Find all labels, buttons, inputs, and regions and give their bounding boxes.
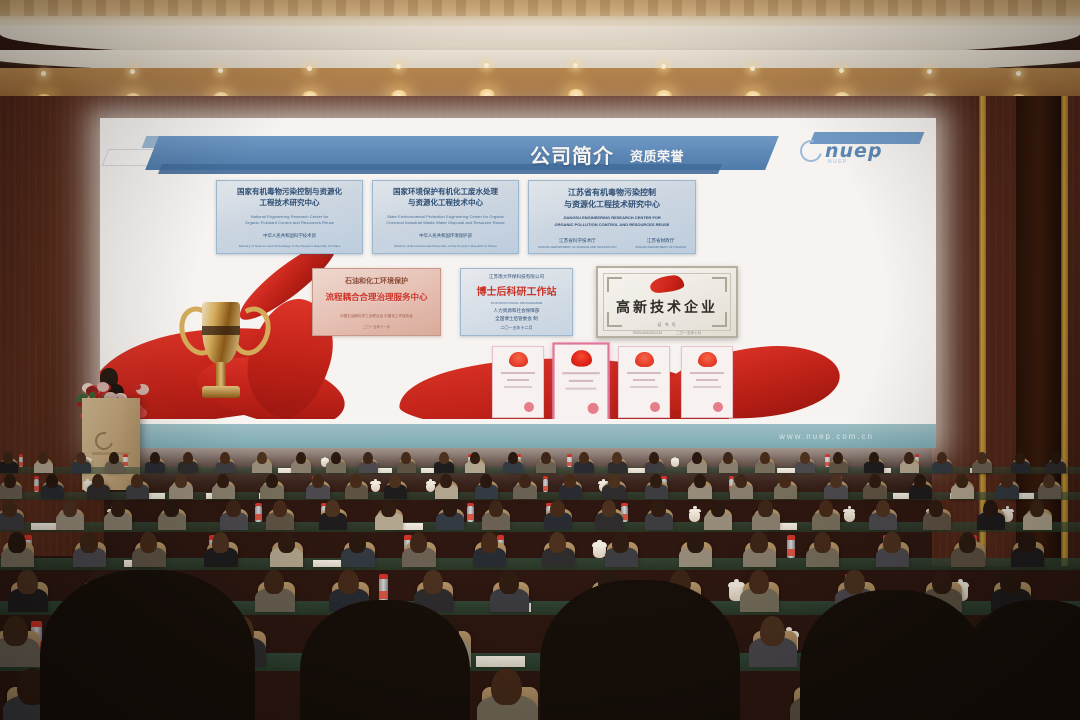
plaque-en-line2: Organic Pollutant Control and Resources … [245,221,334,226]
cert-text-line [690,372,724,374]
plaque-en-line1: State Environmental Protection Engineeri… [387,214,504,219]
audience-member-head [869,452,879,464]
cert-seal-icon [713,402,723,412]
audience-member-head [278,532,295,553]
audience-member-head [111,500,125,517]
foreground-attendee-silhouette [800,590,985,720]
bottle-label [567,462,572,466]
audience-member-head [76,452,86,464]
audience-member-head [1018,532,1035,553]
plaque-en-line2: ORGANIC POLLUTION CONTROL AND RESOURCES … [555,222,670,227]
audience-member-head [779,474,791,488]
presentation-slide: 公司简介 资质荣誉 nuep NUEP 国家有机毒物污染控制与资源化 [100,118,936,448]
plaque-en-line2: Chemical Industrial Waste Water Disposal… [386,221,504,226]
audience-member-head [273,500,287,517]
bottle-cap [19,454,24,457]
slide-footer-url: www.nuep.com.cn [779,432,874,441]
national-emblem-icon [571,350,592,367]
bottle-cap [379,574,388,579]
audience-member-head [350,474,362,488]
plaque-red-top: 石油和化工环境保护 [345,276,408,286]
plaque-dr-org: 江苏南大环保科技有限公司 [489,274,544,280]
plaque-red-footer: 中国石油和化学工业联合会 中国化工环保协会 [340,314,413,319]
audience-member-head [109,452,119,464]
audience-member-head [650,474,662,488]
plaque-dr-en: POSTDOCTORAL PROGRAMME [491,301,542,304]
audience-member-head [349,532,366,553]
audience-member-head [819,500,833,517]
audience-member-head [608,474,620,488]
audience-member-head [1015,452,1025,464]
tea-cup-knob [324,457,327,459]
logo-arc-icon [796,136,826,166]
audience-member-head [338,570,358,594]
audience-member-head [220,452,230,464]
audience-member-head [80,532,97,553]
cert-seal-icon [588,403,599,414]
audience-member-head [1030,500,1044,517]
audience-member-head [508,452,518,464]
plaque-ht-sub: 证 书 号 [657,322,676,328]
plaque-cn-line1: 江苏省有机毒物污染控制 [568,187,656,199]
audience-member-head [150,452,160,464]
audience-member-head [564,474,576,488]
bottle-cap [34,476,39,479]
cert-text-line [627,372,661,374]
audience-member-head [800,452,810,464]
audience-member-head [480,474,492,488]
audience-member-head [1043,474,1055,488]
audience-member-head [869,474,881,488]
audience-member-head [2,500,16,517]
audience-member-head [711,500,725,517]
audience-member-head [470,452,480,464]
national-emblem-icon [698,352,717,367]
audience-member-head [325,500,339,517]
bottle-label [543,486,548,491]
tea-cup [371,484,380,492]
bottle-cap [255,503,261,507]
audience-member-head [750,532,767,553]
audience-member-head [760,616,785,646]
audience-member-head [814,532,831,553]
gold-trophy-icon [178,290,264,408]
ceiling-ornament [0,0,1080,16]
audience-member-head [723,452,733,464]
audience-member-head [692,452,702,464]
logo-subtext: NUEP [828,159,848,165]
bottle-cap [31,621,42,627]
audience-member-head [929,500,943,517]
audience-member-head [651,500,665,517]
plaque-cn-line1: 国家有机毒物污染控制与资源化 [237,187,342,198]
audience-member-head [549,532,566,553]
plaque-ht-main: 高新技术企业 [616,297,718,317]
audience-member-head [959,532,976,553]
plaque-jiangsu-center: 江苏省有机毒物污染控制 与资源化工程技术研究中心 JIANGSU ENGINEE… [528,180,696,254]
plaque-red-main: 流程耦合合理治理服务中心 [325,291,427,303]
cert-4 [681,346,733,418]
plaque-cn-line2: 工程技术研究中心 [260,198,320,209]
bottle-cap [543,476,548,479]
audience-member-head [389,474,401,488]
audience-member-head [914,474,926,488]
audience-member-head [983,500,997,517]
audience-member-head [491,668,522,705]
audience-member-head [519,474,531,488]
tea-cup [689,512,700,522]
bottle-cap [497,535,505,539]
national-emblem-icon [509,352,528,367]
audience-member-head [212,532,229,553]
audience-member-head [1001,474,1013,488]
cert-text-line [501,372,535,374]
cert-text-line [507,379,529,381]
audience-member-head [226,500,240,517]
audience-member-head [612,532,629,553]
audience-member-head [883,532,900,553]
plaque-national-center: 国家有机毒物污染控制与资源化 工程技术研究中心 National Enginee… [216,180,363,254]
audience-member-head [3,616,28,646]
plaque-ht-row-right: 二〇一五年十月 [676,331,701,336]
audience-member-head [312,474,324,488]
slide-footer: www.nuep.com.cn [100,424,936,448]
audience-member-head [175,474,187,488]
tea-cup-knob [597,540,601,543]
cert-1 [492,346,544,418]
tea-cup-lid [843,509,855,513]
bottle-cap [825,454,830,457]
bottle-cap [729,476,734,479]
audience-member-head [423,570,443,594]
plaque-dr-issuer1: 人力资源和社会保障部 [494,308,540,315]
header-dark-stripe [158,164,722,174]
plaque-red-date: 二〇一五年十一月 [363,325,390,330]
slide-title: 公司简介 [530,140,614,169]
audience-member-head [296,452,306,464]
plaque-high-tech-enterprise: 高新技术企业 证 书 号 GR201532001234 二〇一五年十月 [596,266,738,338]
foreground-attendee-silhouette [300,600,470,720]
bottle-cap [621,503,627,507]
audience-member-head [844,570,864,594]
audience-member-head [687,532,704,553]
cert-seal-icon [524,402,534,412]
cert-3 [618,346,670,418]
audience-member-head [612,452,622,464]
bottle-cap [123,454,128,457]
bottle-label [19,462,24,466]
bottle-cap [787,535,795,539]
audience-member-head [830,474,842,488]
audience-member-head [489,500,503,517]
audience-member-head [694,474,706,488]
tea-cup-knob [674,457,677,459]
audience-member-head [760,452,770,464]
audience-member-head [977,452,987,464]
conference-hall-photo: 公司简介 资质荣誉 nuep NUEP 国家有机毒物污染控制与资源化 [0,0,1080,720]
plaque-dr-issuer2: 全国博士后管委会 制 [495,316,538,323]
plaque-issuer-right-cn: 江苏省财政厅 [635,239,686,245]
audience-member-head [38,452,48,464]
cert-text-line [569,380,593,382]
audience-member-head [1051,452,1061,464]
audience-member-head [937,452,947,464]
audience-member-head [410,532,427,553]
audience-member-head [46,474,58,488]
tea-cup-knob [602,479,605,481]
projection-screen: 公司简介 资质荣誉 nuep NUEP 国家有机毒物污染控制与资源化 [100,118,936,448]
plaque-cn-line2: 与资源化工程技术中心 [408,198,483,209]
audience-member-head [758,500,772,517]
audience-member-head [264,570,284,594]
audience-member-head [92,474,104,488]
cert-2 [552,342,609,421]
tea-cup [671,460,679,467]
bottle-cap [467,503,473,507]
plaque-issuer-en: Ministry of Science and Technology of th… [239,244,340,248]
audience-member-head [331,452,341,464]
audience-member-head [363,452,373,464]
audience-member-head [17,570,37,594]
audience-member-head [164,500,178,517]
cert-text-line [562,372,599,374]
audience-member-head [749,570,769,594]
foreground-attendee-silhouette [540,580,740,720]
plaque-dr-main: 博士后科研工作站 [477,283,557,298]
bottle-cap [567,454,572,457]
bottle-label [34,486,39,491]
audience-member-head [579,452,589,464]
plaque-ht-row-left: GR201532001234 [633,331,662,336]
audience-member-head [735,474,747,488]
printed-handout [476,656,526,667]
cert-text-line [693,386,721,388]
slide-subtitle: 资质荣誉 [630,146,684,165]
national-emblem-icon [635,352,654,367]
plaque-issuer-cn: 中华人民共和国科学技术部 [263,234,316,240]
audience-member-head [499,570,519,594]
tea-cup [593,546,606,558]
plaque-state-env-center: 国家环境保护有机化工废水处理 与资源化工程技术中心 State Environm… [372,180,519,254]
audience-member-head [550,500,564,517]
plaque-dr-date: 二〇一五年十二月 [501,325,533,331]
ceiling-sparkle [839,68,844,73]
tea-cup [426,484,435,492]
plaque-issuer-cn: 中华人民共和国环境保护部 [419,234,472,240]
plaque-issuer-left-en: JIANGSU DEPARTMENT OF SCIENCE AND TECHNO… [538,246,617,249]
audience-member-head [257,452,267,464]
plaque-cn-line1: 国家环境保护有机化工废水处理 [393,187,498,198]
audience-member-head [481,532,498,553]
plaque-postdoctoral-station: 江苏南大环保科技有限公司 博士后科研工作站 POSTDOCTORAL PROGR… [460,268,573,336]
audience-member-head [131,474,143,488]
foreground-attendee-silhouette [40,570,255,720]
audience-member-head [956,474,968,488]
audience-member-head [833,452,843,464]
foreground-attendee-silhouette [960,600,1080,720]
audience-member-head [266,474,278,488]
audience-member-head [440,474,452,488]
audience-member-head [439,452,449,464]
plaque-issuer-right-en: JIANGSU DEPARTMENT OF FINANCE [635,246,686,249]
certificate-row [492,346,733,418]
bottle-cap [661,476,666,479]
audience-member-head [63,500,77,517]
bottle-label [467,514,473,520]
cert-text-line [696,379,718,381]
bottle-cap [915,454,920,457]
bottle-cap [24,535,32,539]
tea-cup-knob [374,479,377,481]
bottle-cap [517,454,522,457]
tea-cup-lid [689,509,701,513]
audience-member-head [4,474,16,488]
audience-member-head [541,452,551,464]
audience-member-head [443,500,457,517]
bottle-label [787,549,795,556]
audience-member-head [904,452,914,464]
plaque-petrochem-center: 石油和化工环境保护 流程耦合合理治理服务中心 中国石油和化学工业联合会 中国化工… [312,268,441,336]
audience-member-head [1000,570,1020,594]
audience-member-head [217,474,229,488]
audience-member-head [876,500,890,517]
cert-text-line [504,386,532,388]
audience-member-head [8,532,25,553]
flower [89,392,96,398]
cert-text-line [633,379,655,381]
ceiling-sparkle [573,63,578,68]
plaque-issuer-left-cn: 江苏省科学技术厅 [538,239,617,245]
tea-cup [844,512,855,522]
audience-member-head [183,452,193,464]
cert-text-line [566,388,597,390]
audience-member-head [381,500,395,517]
plaque-en-line1: JIANGSU ENGINEERING RESEARCH CENTER FOR [563,215,661,220]
plaque-issuer-en: Ministry of Environmental Protection of … [394,244,496,248]
cert-text-line [630,386,658,388]
bottle-label [255,514,261,520]
ceiling-sparkle [484,63,489,68]
audience-member-head [401,452,411,464]
cert-seal-icon [650,402,660,412]
audience-member-head [602,500,616,517]
plaque-cn-line2: 与资源化工程技术研究中心 [564,199,660,211]
bottle-label [379,591,388,599]
audience-member-head [649,452,659,464]
audience-member-head [140,532,157,553]
plaque-en-line1: National Engineering Research Center for [251,214,329,219]
audience-member-head [932,570,952,594]
audience-member-head [3,452,13,464]
